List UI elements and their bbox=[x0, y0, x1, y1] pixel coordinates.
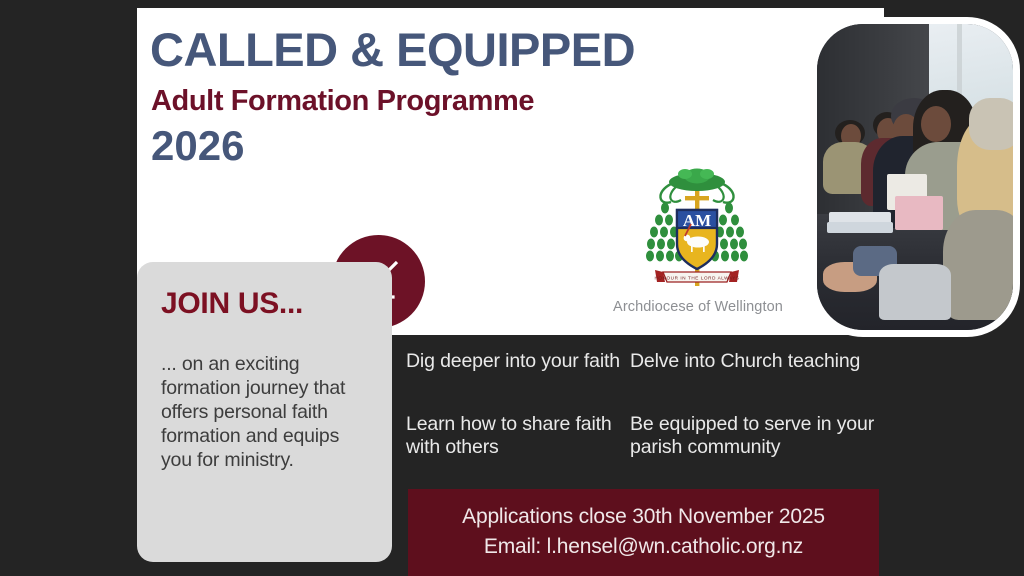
poster-canvas: CALLED & EQUIPPED Adult Formation Progra… bbox=[0, 0, 1024, 576]
coat-of-arms-icon: AM HONOUR IN THE LORD ALWAYS bbox=[641, 166, 753, 294]
contact-email[interactable]: Email: l.hensel@wn.catholic.org.nz bbox=[408, 532, 879, 562]
programme-year: 2026 bbox=[151, 125, 244, 167]
application-deadline: Applications close 30th November 2025 bbox=[408, 502, 879, 532]
formation-class-photo bbox=[817, 24, 1013, 330]
join-us-heading: JOIN US... bbox=[161, 289, 303, 319]
svg-text:AM: AM bbox=[683, 211, 711, 230]
page-title: CALLED & EQUIPPED bbox=[150, 26, 635, 73]
footer-contact-banner: Applications close 30th November 2025 Em… bbox=[408, 489, 879, 576]
benefit-item: Dig deeper into your faith bbox=[406, 350, 621, 373]
archdiocese-crest: AM HONOUR IN THE LORD ALWAYS Archdiocese… bbox=[603, 166, 793, 326]
benefit-item: Delve into Church teaching bbox=[630, 350, 880, 373]
join-us-card: JOIN US... ... on an exciting formation … bbox=[137, 262, 392, 562]
benefit-item: Learn how to share faith with others bbox=[406, 413, 621, 459]
crest-caption: Archdiocese of Wellington bbox=[603, 299, 793, 315]
crest-motto: HONOUR IN THE LORD ALWAYS bbox=[654, 276, 739, 281]
page-subtitle: Adult Formation Programme bbox=[151, 87, 534, 116]
join-us-body: ... on an exciting formation journey tha… bbox=[161, 353, 375, 473]
benefit-item: Be equipped to serve in your parish comm… bbox=[630, 413, 890, 459]
